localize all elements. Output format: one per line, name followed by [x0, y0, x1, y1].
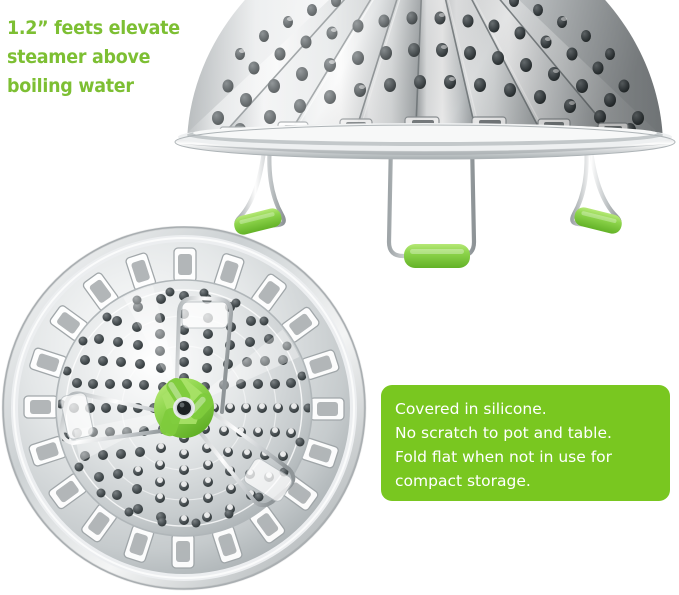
headline-text: 1.2” feets elevate steamer above boiling… — [7, 14, 219, 101]
steamer-basket-bottom-view — [0, 226, 372, 595]
steamer-rim — [175, 123, 675, 159]
callout-line-1: Covered in silicone. — [395, 397, 656, 421]
callout-line-2: No scratch to pot and table. — [395, 421, 656, 445]
product-image-canvas: 1.2” feets elevate steamer above boiling… — [0, 0, 679, 595]
features-callout-box: Covered in silicone. No scratch to pot a… — [381, 385, 670, 501]
callout-line-4: compact storage. — [395, 469, 656, 493]
silicone-foot-center — [404, 244, 470, 268]
callout-line-3: Fold flat when not in use for — [395, 445, 656, 469]
